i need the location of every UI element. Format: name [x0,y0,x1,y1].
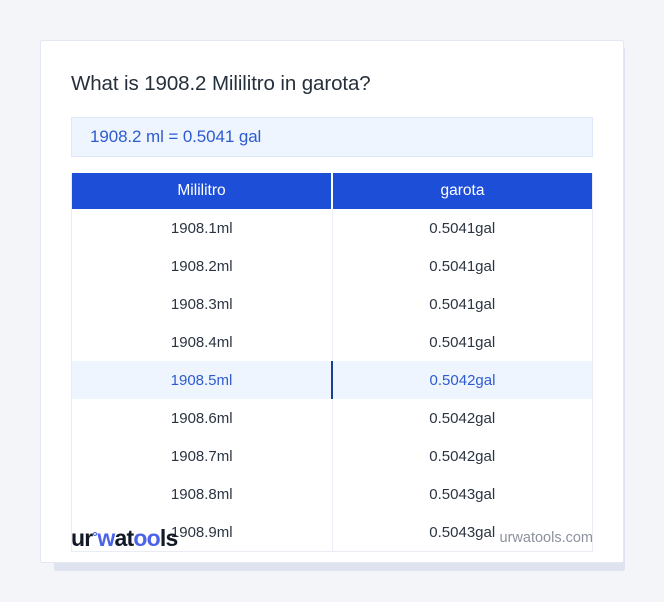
table-row[interactable]: 1908.1ml0.5041gal [72,209,593,247]
cell-mililitro: 1908.7ml [72,437,333,475]
cell-mililitro: 1908.4ml [72,323,333,361]
urwatools-logo[interactable]: urwatools [71,527,177,550]
table-header-row: Mililitro garota [72,173,593,209]
cell-mililitro: 1908.6ml [72,399,333,437]
logo-part-w: w [97,527,114,550]
cell-garota: 0.5041gal [332,323,593,361]
cell-mililitro: 1908.1ml [72,209,333,247]
result-banner: 1908.2 ml = 0.5041 gal [71,117,593,157]
page-title: What is 1908.2 Mililitro in garota? [71,71,593,97]
table-row[interactable]: 1908.4ml0.5041gal [72,323,593,361]
conversion-table: Mililitro garota 1908.1ml0.5041gal1908.2… [71,173,593,552]
cell-garota: 0.5041gal [332,285,593,323]
logo-dot-icon [93,532,97,536]
cell-garota: 0.5042gal [332,361,593,399]
column-header-garota: garota [332,173,593,209]
logo-part-ls: ls [160,527,178,550]
site-url-label: urwatools.com [500,530,593,546]
cell-mililitro: 1908.5ml [72,361,333,399]
card-content: What is 1908.2 Mililitro in garota? 1908… [41,41,623,552]
cell-garota: 0.5041gal [332,209,593,247]
cell-garota: 0.5042gal [332,437,593,475]
cell-mililitro: 1908.2ml [72,247,333,285]
logo-part-at: at [115,527,134,550]
card-footer: urwatools urwatools.com [41,514,623,562]
cell-garota: 0.5042gal [332,399,593,437]
table-row[interactable]: 1908.2ml0.5041gal [72,247,593,285]
cell-mililitro: 1908.3ml [72,285,333,323]
table-body: 1908.1ml0.5041gal1908.2ml0.5041gal1908.3… [72,209,593,552]
conversion-card: What is 1908.2 Mililitro in garota? 1908… [40,40,624,563]
table-head: Mililitro garota [72,173,593,209]
screenshot-root: What is 1908.2 Mililitro in garota? 1908… [0,0,664,602]
column-header-mililitro: Mililitro [72,173,333,209]
logo-part-oo: oo [133,527,160,550]
table-row[interactable]: 1908.5ml0.5042gal [72,361,593,399]
cell-mililitro: 1908.8ml [72,475,333,513]
logo-part-ur: ur [71,527,92,550]
result-banner-text: 1908.2 ml = 0.5041 gal [90,127,261,147]
table-row[interactable]: 1908.7ml0.5042gal [72,437,593,475]
cell-garota: 0.5041gal [332,247,593,285]
table-row[interactable]: 1908.6ml0.5042gal [72,399,593,437]
table-row[interactable]: 1908.8ml0.5043gal [72,475,593,513]
cell-garota: 0.5043gal [332,475,593,513]
table-row[interactable]: 1908.3ml0.5041gal [72,285,593,323]
